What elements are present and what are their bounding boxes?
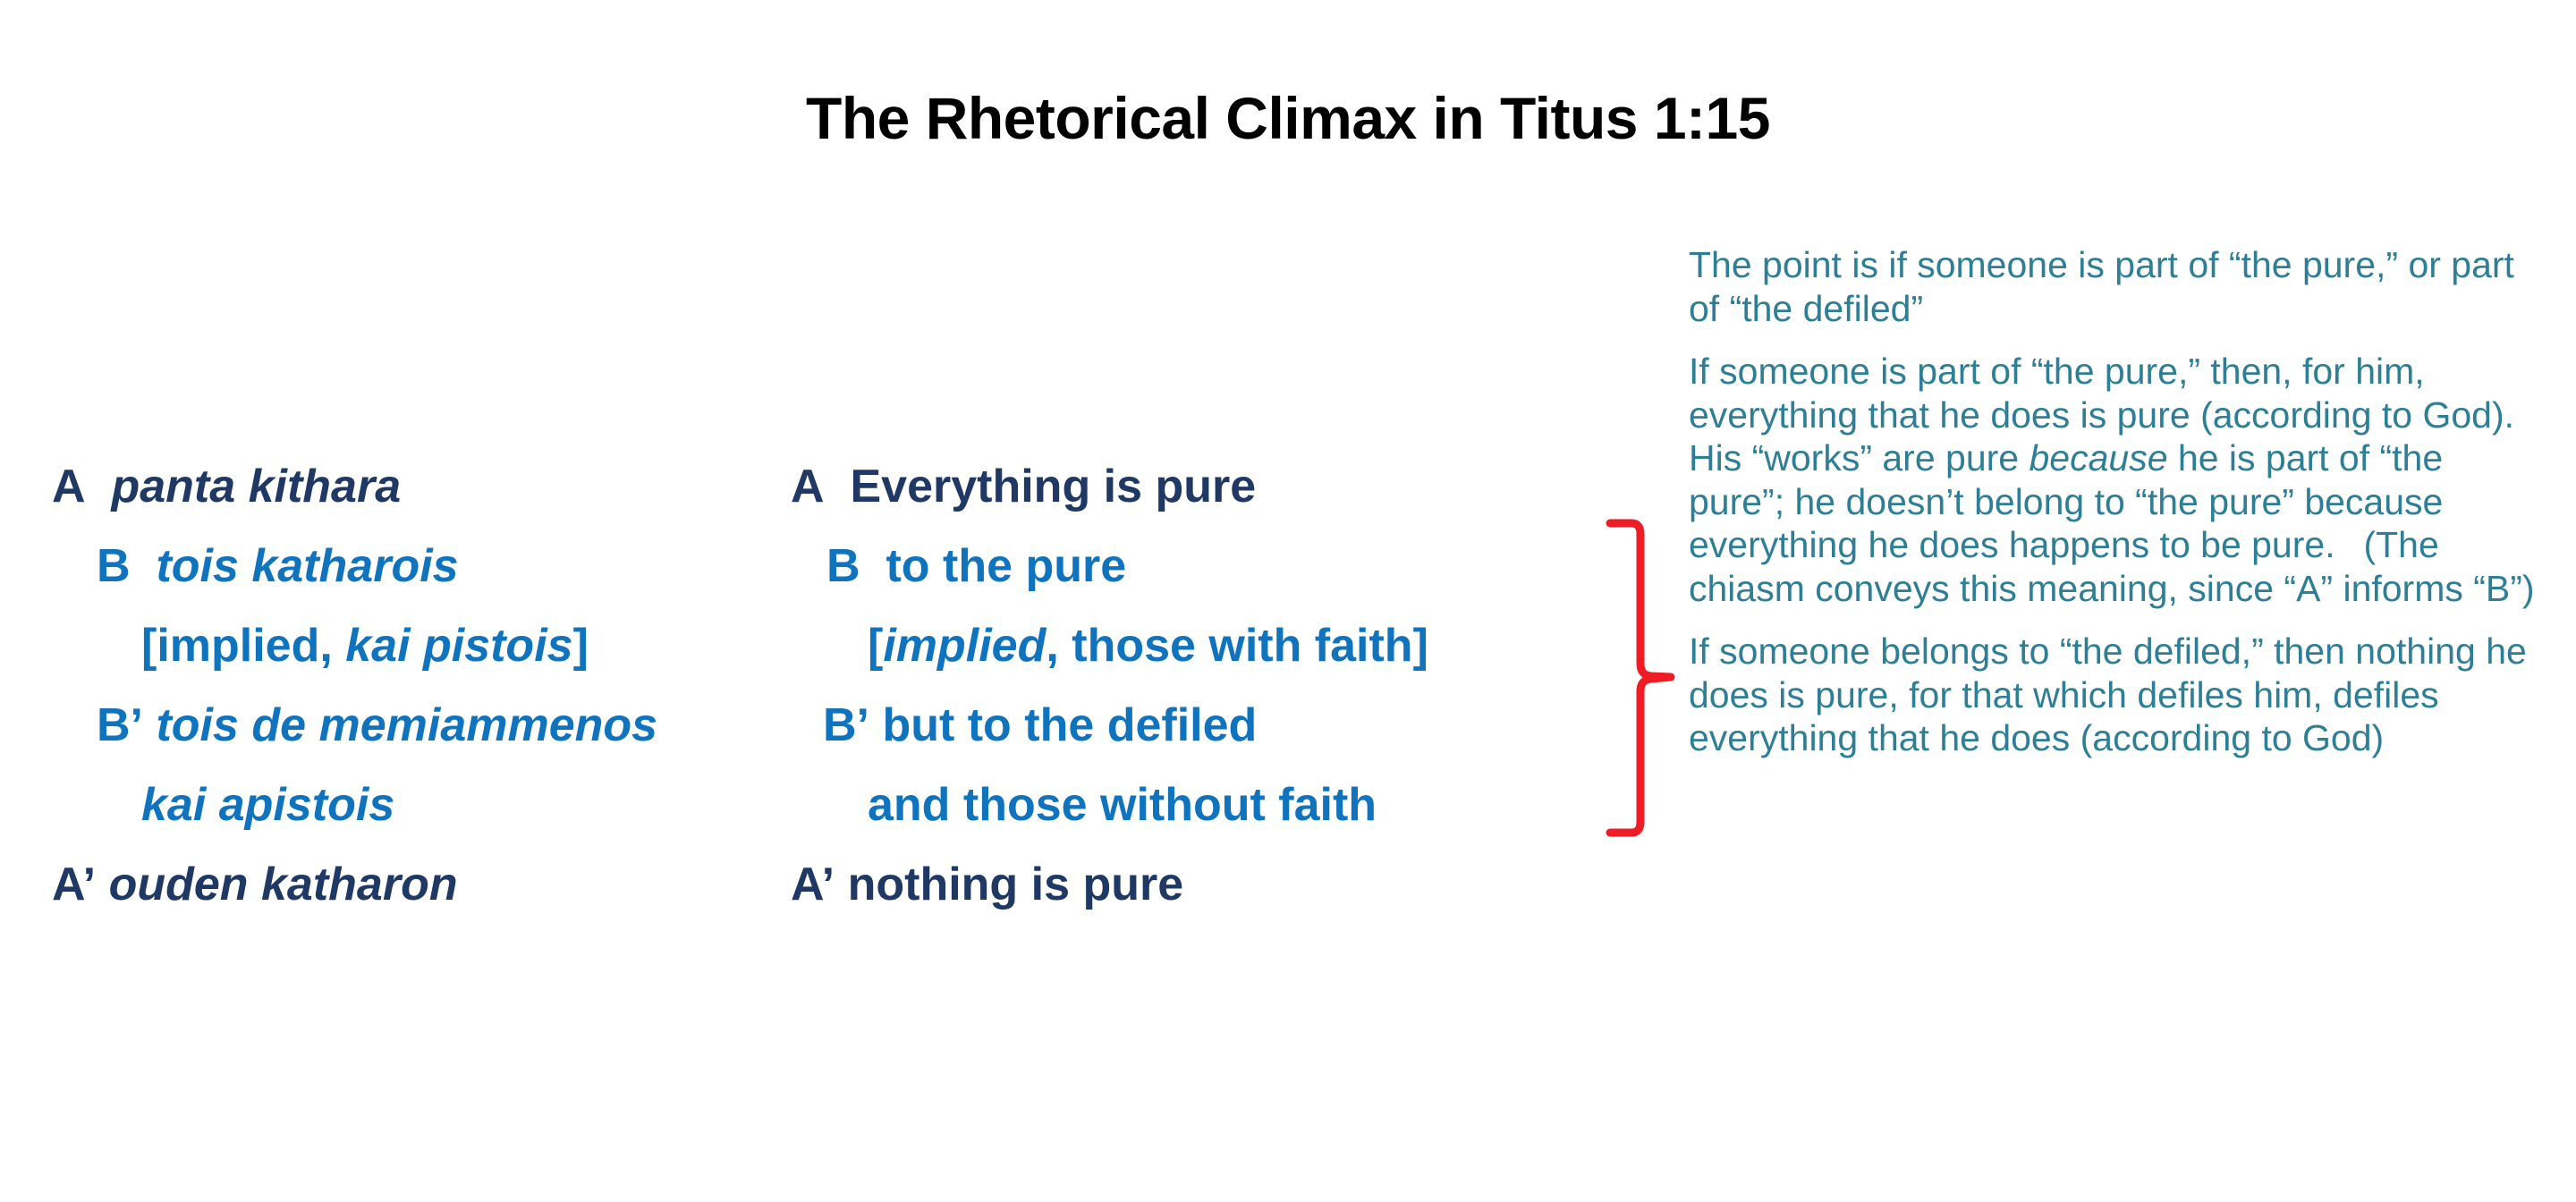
chiasm-text-greek-a: panta kithara (111, 461, 401, 512)
chiasm-marker-b-prime: B’ (97, 699, 143, 751)
chiasm-line-english-a-prime: A’ nothing is pure (791, 845, 1614, 925)
commentary-paragraph-2: If someone is part of “the pure,” then, … (1689, 350, 2538, 610)
chiasm-greek-column: A panta kithara B tois katharois [implie… (52, 447, 785, 925)
chiasm-line-greek-a: A panta kithara (52, 447, 785, 527)
chiasm-line-greek-b: B tois katharois (97, 527, 785, 606)
chiasm-english-implied-open: [ (868, 620, 883, 672)
slide-canvas: The Rhetorical Climax in Titus 1:15 A pa… (0, 0, 2576, 1202)
chiasm-text-english-continuation: and those without faith (868, 779, 1377, 831)
chiasm-text-greek-b: tois katharois (156, 540, 458, 592)
commentary-paragraph-1: The point is if someone is part of “the … (1689, 243, 2538, 330)
chiasm-implied-emphasis: kai pistois (345, 620, 572, 672)
chiasm-line-greek-b-prime: B’ tois de memiammenos (97, 686, 785, 766)
chiasm-marker-a: A (52, 461, 86, 512)
chiasm-text-english-a-prime: nothing is pure (848, 859, 1184, 910)
chiasm-marker-b: B (97, 540, 131, 592)
chiasm-line-greek-implied: [implied, kai pistois] (141, 606, 785, 686)
chiasm-line-greek-a-prime: A’ ouden katharon (52, 845, 785, 925)
chiasm-marker-english-b-prime: B’ (823, 699, 869, 751)
chiasm-text-greek-continuation: kai apistois (141, 779, 394, 831)
chiasm-text-greek-a-prime: ouden katharon (109, 859, 458, 910)
page-title: The Rhetorical Climax in Titus 1:15 (0, 86, 2576, 151)
commentary-column: The point is if someone is part of “the … (1689, 243, 2538, 760)
chiasm-line-english-b-prime: B’ but to the defiled (823, 686, 1614, 766)
chiasm-text-greek-b-prime: tois de memiammenos (156, 699, 657, 751)
chiasm-implied-close: ] (573, 620, 589, 672)
commentary-p2-emphasis: because (2029, 437, 2167, 478)
chiasm-marker-english-a: A (791, 461, 825, 512)
chiasm-implied-open: [implied, (141, 620, 345, 672)
chiasm-marker-a-prime: A’ (52, 859, 96, 910)
chiasm-english-implied-emphasis: implied (883, 620, 1046, 672)
chiasm-text-english-b: to the pure (885, 540, 1126, 592)
chiasm-text-english-a: Everything is pure (850, 461, 1256, 512)
commentary-paragraph-3: If someone belongs to “the defiled,” the… (1689, 630, 2538, 760)
chiasm-line-english-b: B to the pure (826, 527, 1614, 606)
chiasm-english-column: A Everything is pure B to the pure [impl… (791, 447, 1614, 925)
chiasm-line-english-implied: [implied, those with faith] (868, 606, 1614, 686)
chiasm-marker-english-a-prime: A’ (791, 859, 835, 910)
chiasm-line-english-a: A Everything is pure (791, 447, 1614, 527)
chiasm-text-english-b-prime: but to the defiled (882, 699, 1257, 751)
chiasm-marker-english-b: B (826, 540, 860, 592)
chiasm-english-implied-close: , those with faith] (1046, 620, 1428, 672)
chiasm-line-greek-continuation: kai apistois (141, 766, 785, 845)
chiasm-line-english-continuation: and those without faith (868, 766, 1614, 845)
